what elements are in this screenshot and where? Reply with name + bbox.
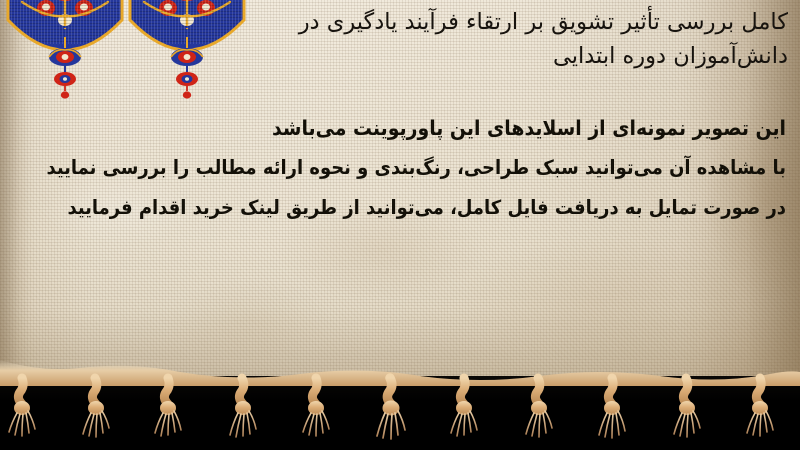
body-text-block: این تصویر نمونه‌ای از اسلایدهای این پاور… [14,108,786,228]
body-line-1: این تصویر نمونه‌ای از اسلایدهای این پاور… [76,108,786,148]
fringe-header-band [0,360,800,386]
tassel-group [9,378,773,439]
title-line-2: دانش‌آموزان دوره ابتدایی [218,39,788,73]
body-line-2: با مشاهده آن می‌توانید سبک طراحی، رنگ‌بن… [76,148,786,188]
slide-text-layer: کامل بررسی تأثیر تشویق بر ارتقاء فرآیند … [0,0,800,378]
carpet-knotted-fringe [0,352,800,450]
body-line-3: در صورت تمایل به دریافت فایل کامل، می‌تو… [76,188,786,228]
title-line-1: کامل بررسی تأثیر تشویق بر ارتقاء فرآیند … [218,5,788,39]
presentation-slide: کامل بررسی تأثیر تشویق بر ارتقاء فرآیند … [0,0,800,450]
page-title: کامل بررسی تأثیر تشویق بر ارتقاء فرآیند … [218,5,788,73]
